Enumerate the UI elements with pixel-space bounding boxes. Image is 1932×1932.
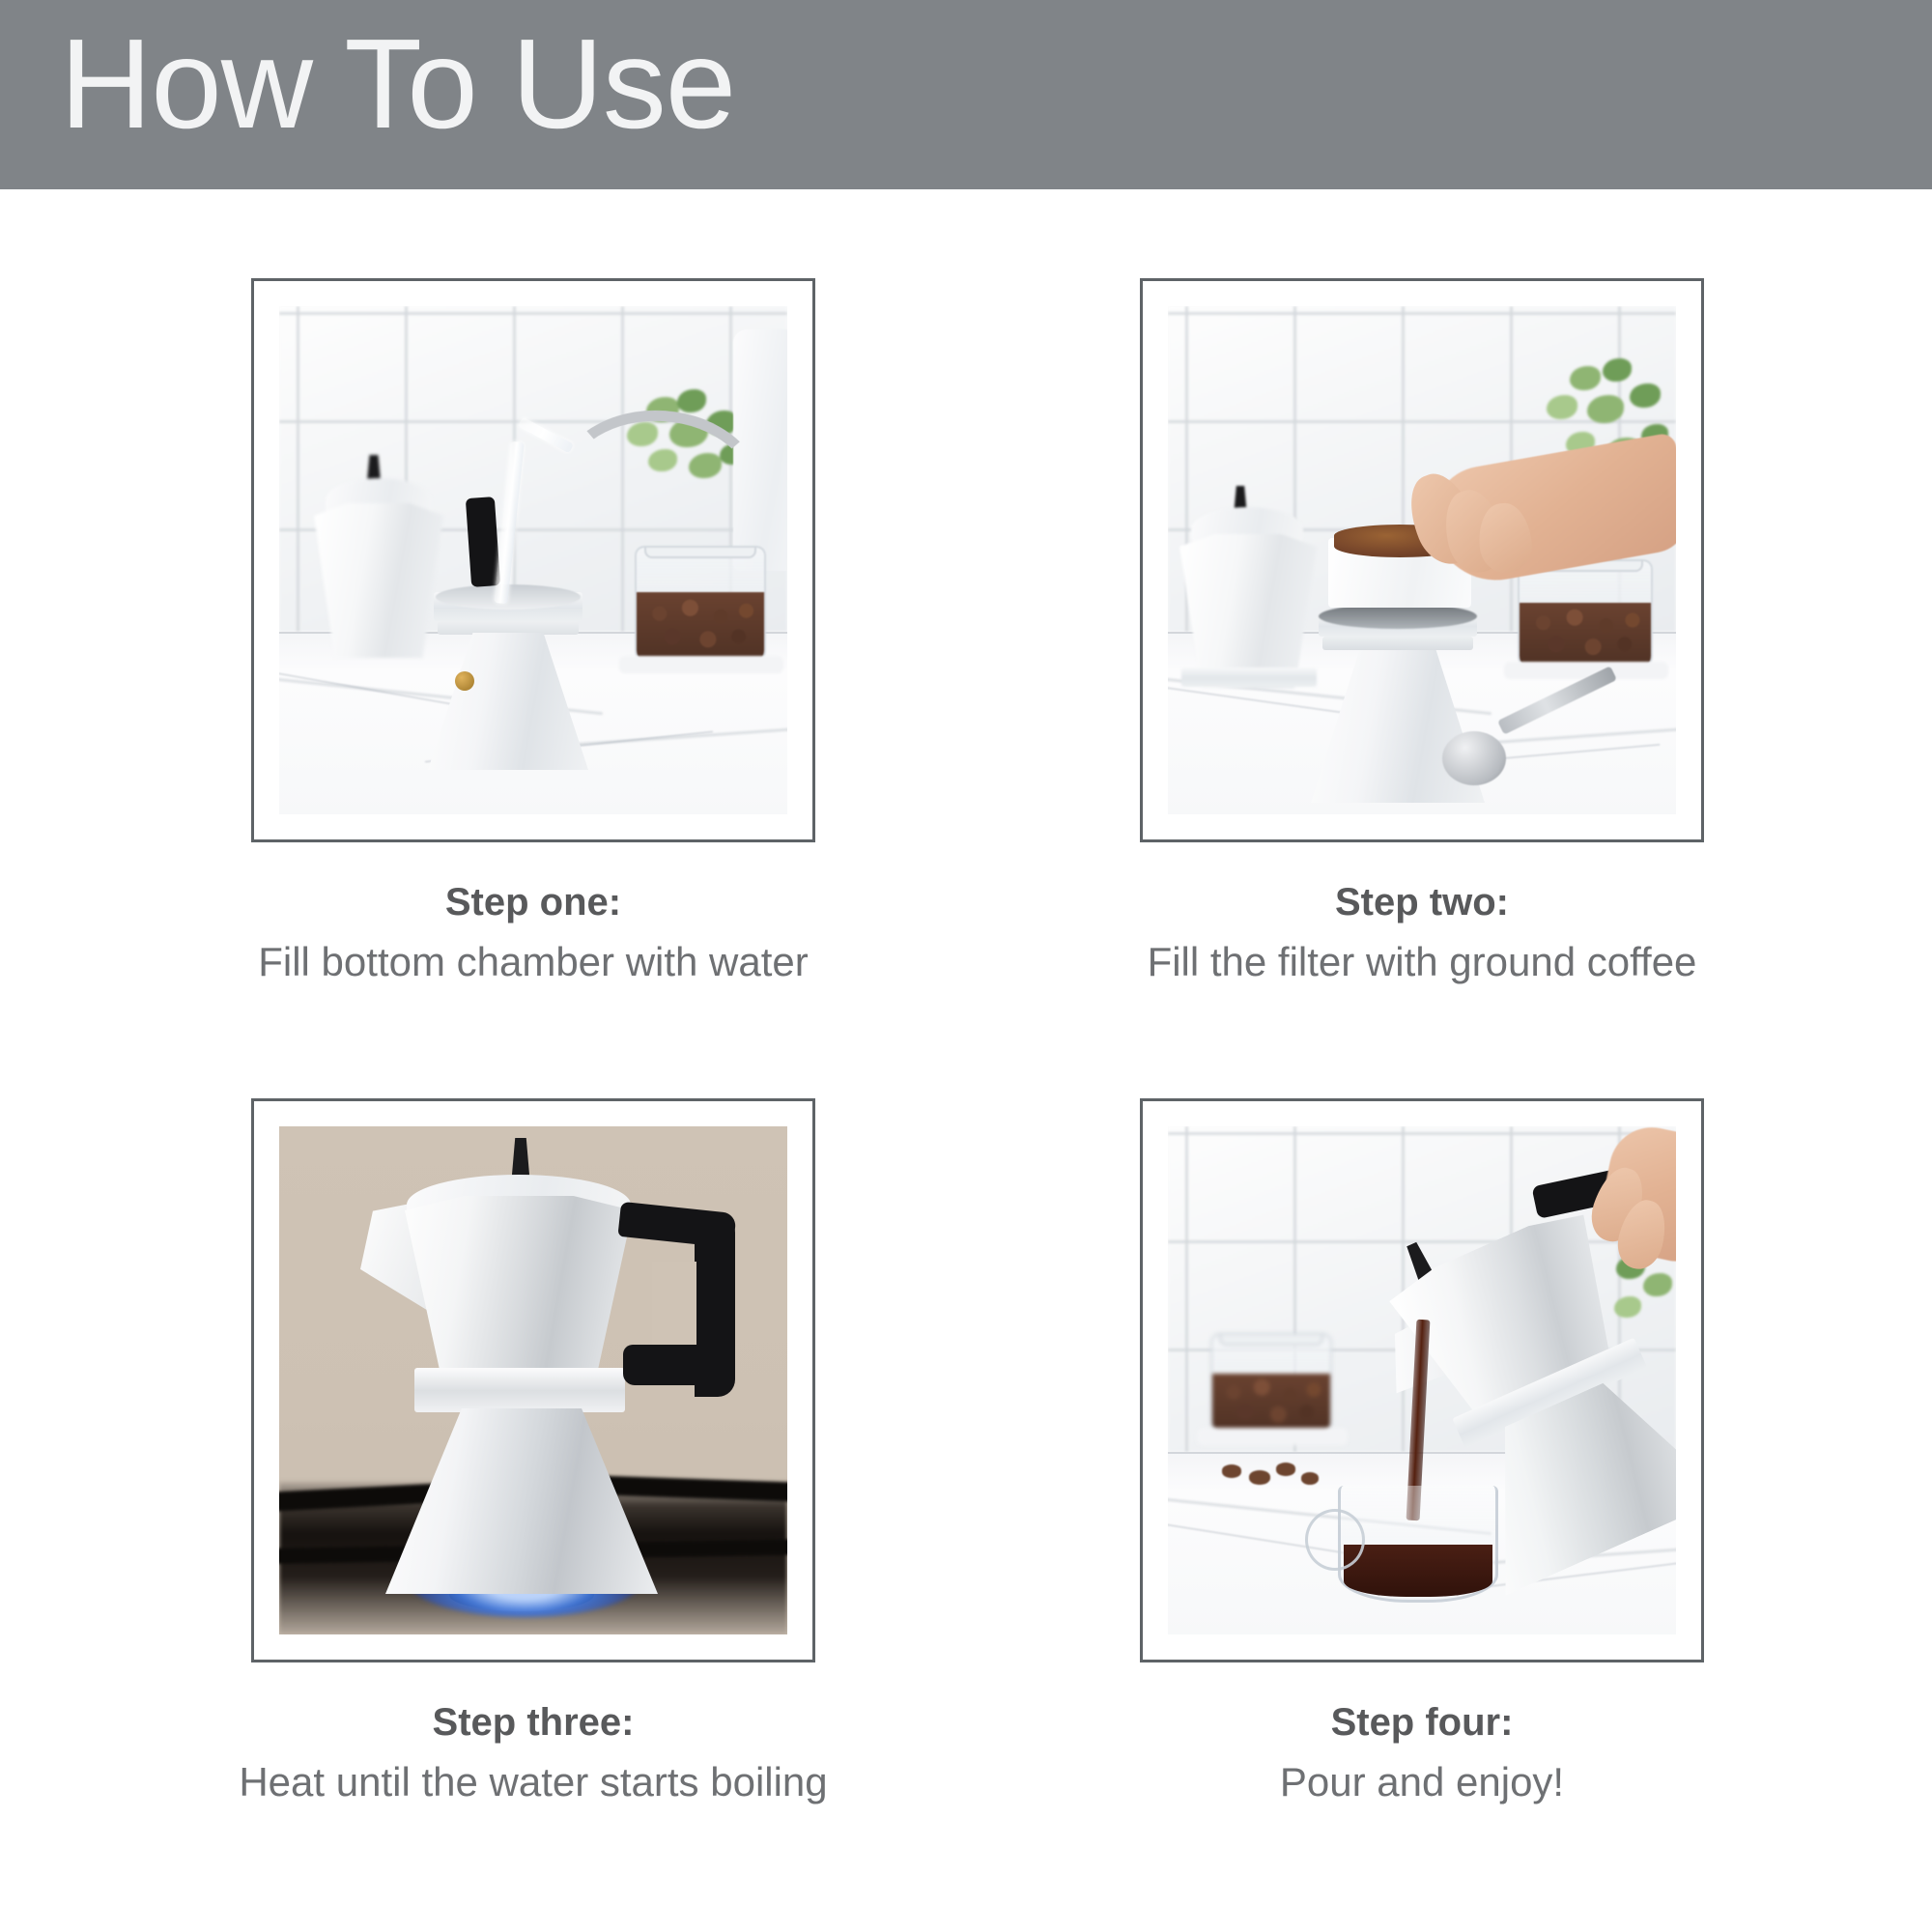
coffee-bean	[1301, 1472, 1319, 1485]
step-two-caption: Step two: Fill the filter with ground co…	[978, 877, 1866, 991]
coffee-bean	[1222, 1464, 1241, 1478]
coffee-beans	[637, 592, 764, 664]
jar-lid	[644, 546, 756, 558]
pot-handle	[623, 1345, 706, 1385]
jar-trivet	[1197, 1428, 1348, 1445]
coffee-bean	[1249, 1470, 1270, 1485]
step-four-photo	[1168, 1126, 1676, 1634]
step-one-photo-frame	[251, 278, 815, 842]
jar-trivet	[619, 656, 783, 673]
pot-lower-chamber	[385, 1408, 658, 1594]
stove-scene	[279, 1126, 787, 1634]
kitchen-scene	[1168, 1126, 1676, 1634]
step-one-caption: Step one: Fill bottom chamber with water	[89, 877, 978, 991]
coffee-beans	[1212, 1374, 1330, 1435]
pot-band	[414, 1368, 625, 1412]
jar-lid	[1219, 1333, 1322, 1346]
pot-upper-chamber	[405, 1196, 633, 1378]
coffee-bean	[1276, 1463, 1295, 1476]
step-two-title: Step two:	[978, 877, 1866, 927]
step-four-photo-frame	[1140, 1098, 1704, 1662]
steps-grid: Step one: Fill bottom chamber with water	[0, 189, 1932, 1932]
background-moka-pot	[1172, 496, 1330, 689]
step-two-photo-frame	[1140, 278, 1704, 842]
kitchen-scene	[1168, 306, 1676, 814]
kitchen-scene	[279, 306, 787, 814]
step-card-one: Step one: Fill bottom chamber with water	[89, 278, 978, 991]
coffee-bean-jar	[1210, 1333, 1332, 1437]
measuring-spoon-bowl	[1442, 731, 1506, 785]
pot-handle	[466, 497, 500, 587]
coffee-bean-jar	[1518, 559, 1653, 671]
step-three-caption: Step three: Heat until the water starts …	[89, 1697, 978, 1811]
step-one-photo	[279, 306, 787, 814]
step-card-two: Step two: Fill the filter with ground co…	[978, 278, 1866, 991]
coffee-beans	[1520, 603, 1651, 669]
step-card-three: Step three: Heat until the water starts …	[89, 1098, 978, 1811]
step-three-photo-frame	[251, 1098, 815, 1662]
step-four-caption: Step four: Pour and enjoy!	[978, 1697, 1866, 1811]
page-title: How To Use	[60, 12, 735, 156]
cup-handle	[1305, 1509, 1365, 1571]
step-four-title: Step four:	[978, 1697, 1866, 1747]
step-card-four: Step four: Pour and enjoy!	[978, 1098, 1866, 1811]
step-two-text: Fill the filter with ground coffee	[978, 933, 1866, 991]
step-three-photo	[279, 1126, 787, 1634]
step-one-title: Step one:	[89, 877, 978, 927]
step-three-title: Step three:	[89, 1697, 978, 1747]
header-band: How To Use	[0, 0, 1932, 189]
handle-cutout	[652, 1262, 696, 1345]
pot-knob	[503, 1138, 538, 1179]
step-four-text: Pour and enjoy!	[978, 1753, 1866, 1811]
step-three-text: Heat until the water starts boiling	[89, 1753, 978, 1811]
step-two-photo	[1168, 306, 1676, 814]
coffee-bean-jar	[635, 546, 766, 666]
step-one-text: Fill bottom chamber with water	[89, 933, 978, 991]
coffee-in-cup	[1344, 1545, 1492, 1597]
